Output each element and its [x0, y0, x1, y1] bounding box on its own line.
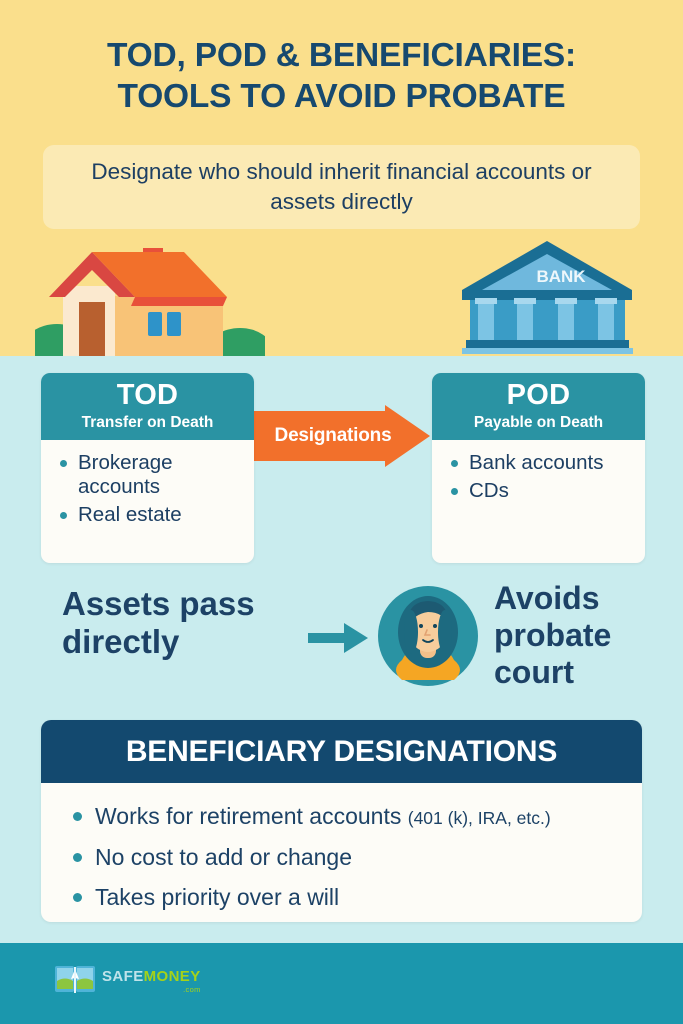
beneficiary-list: Works for retirement accounts (401 (k), … [41, 783, 642, 912]
list-item: Works for retirement accounts (401 (k), … [73, 803, 620, 831]
card-pod-header: POD Payable on Death [432, 373, 645, 440]
avatar-hair-right [438, 610, 452, 654]
avatar-eye-right [433, 624, 437, 628]
page-title-line-1: TOD, POD & BENEFICIARIES: [0, 36, 683, 77]
list-item: Brokerage accounts [59, 451, 248, 499]
hero-section: TOD, POD & BENEFICIARIES: TOOLS TO AVOID… [0, 0, 683, 356]
page-title-line-2: TOOLS TO AVOID PROBATE [0, 77, 683, 118]
beneficiary-panel: BENEFICIARY DESIGNATIONS Works for retir… [41, 720, 642, 922]
safemoney-logo[interactable]: SAFEMONEY .com [55, 965, 201, 995]
list-item: No cost to add or change [73, 844, 620, 872]
subtitle-box: Designate who should inherit financial a… [43, 145, 640, 229]
list-item-main: No cost to add or change [95, 844, 352, 870]
subtitle-text: Designate who should inherit financial a… [43, 157, 640, 218]
card-pod-full: Payable on Death [438, 414, 639, 431]
bank-step [462, 348, 633, 354]
card-pod-abbr: POD [438, 381, 639, 410]
window-right [167, 312, 181, 336]
list-item: Takes priority over a will [73, 884, 620, 912]
designations-label: Designations [253, 405, 413, 467]
card-tod-full: Transfer on Death [47, 414, 248, 431]
footer-bar: SAFEMONEY .com [0, 943, 683, 1024]
infographic-poster: TOD, POD & BENEFICIARIES: TOOLS TO AVOID… [0, 0, 683, 1024]
window-left [148, 312, 162, 336]
front-door [79, 302, 105, 356]
page-title: TOD, POD & BENEFICIARIES: TOOLS TO AVOID… [0, 36, 683, 118]
avatar-eye-left [419, 624, 423, 628]
bank-illustration: BANK [460, 238, 635, 356]
card-pod: POD Payable on Death Bank accounts CDs [432, 373, 645, 563]
assets-pass-text: Assets pass directly [62, 585, 312, 662]
list-item-main: Works for retirement accounts [95, 803, 408, 829]
card-tod-abbr: TOD [47, 381, 248, 410]
logo-wordmark: SAFEMONEY .com [102, 969, 201, 994]
flow-arrow-icon [308, 620, 370, 656]
beneficiary-avatar [378, 586, 478, 686]
logo-com-text: .com [102, 986, 201, 994]
logo-safe-text: SAFE [102, 968, 144, 985]
card-pod-list: Bank accounts CDs [432, 440, 645, 513]
logo-money-text: MONEY [144, 968, 201, 985]
roof-edge [131, 297, 227, 306]
bank-base [466, 340, 629, 348]
avatar-hair-left [404, 610, 418, 654]
list-item-main: Takes priority over a will [95, 884, 339, 910]
card-tod: TOD Transfer on Death Brokerage accounts… [41, 373, 254, 563]
bank-sign-text: BANK [536, 267, 586, 286]
list-item: Bank accounts [450, 451, 639, 475]
beneficiary-heading: BENEFICIARY DESIGNATIONS [41, 720, 642, 783]
list-item: Real estate [59, 503, 248, 527]
avoids-probate-text: Avoids probate court [494, 580, 654, 690]
list-item: CDs [450, 479, 639, 503]
list-item-note: (401 (k), IRA, etc.) [408, 808, 551, 828]
open-book-icon [55, 965, 95, 995]
card-tod-list: Brokerage accounts Real estate [41, 440, 254, 538]
card-tod-header: TOD Transfer on Death [41, 373, 254, 440]
house-illustration [35, 240, 265, 356]
